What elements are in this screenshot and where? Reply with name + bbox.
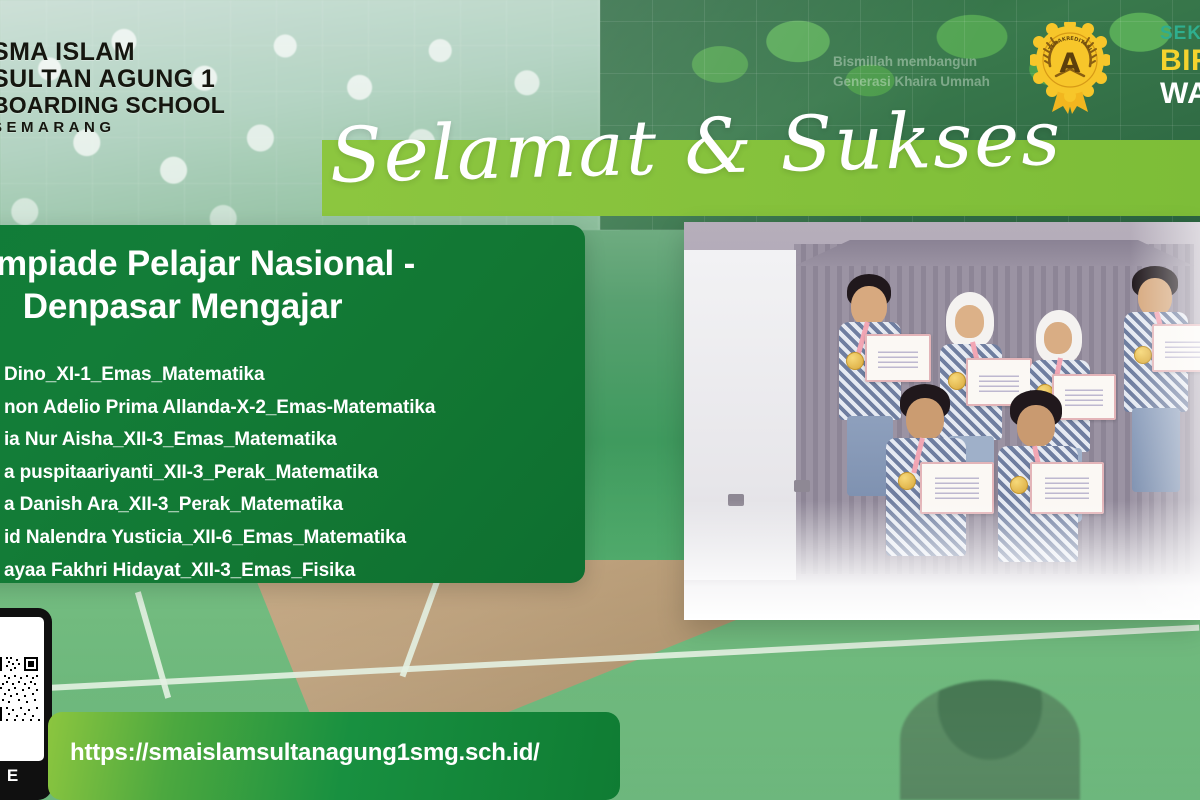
winner-item: a Danish Ara_XII-3_Perak_Matematika (4, 495, 564, 514)
winner-item: Dino_XI-1_Emas_Matematika (4, 365, 564, 384)
winners-photo (684, 222, 1200, 620)
qr-label: E (0, 766, 52, 786)
photo-bottom-fade (684, 500, 1200, 620)
achievement-panel: Olimpiade Pelajar Nasional - Denpasar Me… (0, 225, 585, 583)
winner-item: id Nalendra Yusticia_XII-6_Emas_Matemati… (4, 528, 564, 547)
panel-title: Olimpiade Pelajar Nasional - Denpasar Me… (0, 243, 585, 328)
poster-canvas: SMA ISLAM SULTAN AGUNG 1 BOARDING SCHOOL… (0, 0, 1200, 800)
photo-wall-socket (794, 480, 810, 492)
winner-item: a puspitaariyanti_XII-3_Perak_Matematika (4, 463, 564, 482)
panel-title-line1: Olimpiade Pelajar Nasional - (0, 243, 585, 286)
website-url-bar[interactable]: https://smaislamsultanagung1smg.sch.id/ (48, 712, 620, 800)
brand-line2: BIRRUL (1160, 46, 1200, 76)
qr-code-icon (0, 617, 44, 761)
website-url[interactable]: https://smaislamsultanagung1smg.sch.id/ (70, 739, 540, 767)
headline-selamat-sukses: Selamat & Sukses (329, 95, 972, 231)
winner-item: non Adelio Prima Allanda-X-2_Emas-Matema… (4, 398, 564, 417)
school-name-line2: SULTAN AGUNG 1 (0, 67, 332, 92)
brand-birrul-walidain: SEKOLAH BIRRUL WALIDAIN (1160, 24, 1200, 109)
winners-list: Dino_XI-1_Emas_Matematika non Adelio Pri… (4, 365, 564, 593)
school-city: SEMARANG (0, 120, 332, 135)
qr-code-block[interactable]: E (0, 608, 52, 800)
photo-right-fade (1130, 222, 1200, 620)
school-name-line1: SMA ISLAM (0, 40, 332, 65)
brand-line3: WALIDAIN (1160, 79, 1200, 109)
school-name-line3: BOARDING SCHOOL (0, 94, 332, 117)
brand-line1: SEKOLAH (1160, 24, 1200, 43)
svg-text:A: A (1060, 48, 1081, 79)
winner-item: ia Nur Aisha_XII-3_Emas_Matematika (4, 430, 564, 449)
winner-item: ayaa Fakhri Hidayat_XII-3_Emas_Fisika (4, 561, 564, 580)
school-logo: SMA ISLAM SULTAN AGUNG 1 BOARDING SCHOOL… (0, 40, 332, 135)
panel-title-line2: Denpasar Mengajar (0, 286, 585, 329)
